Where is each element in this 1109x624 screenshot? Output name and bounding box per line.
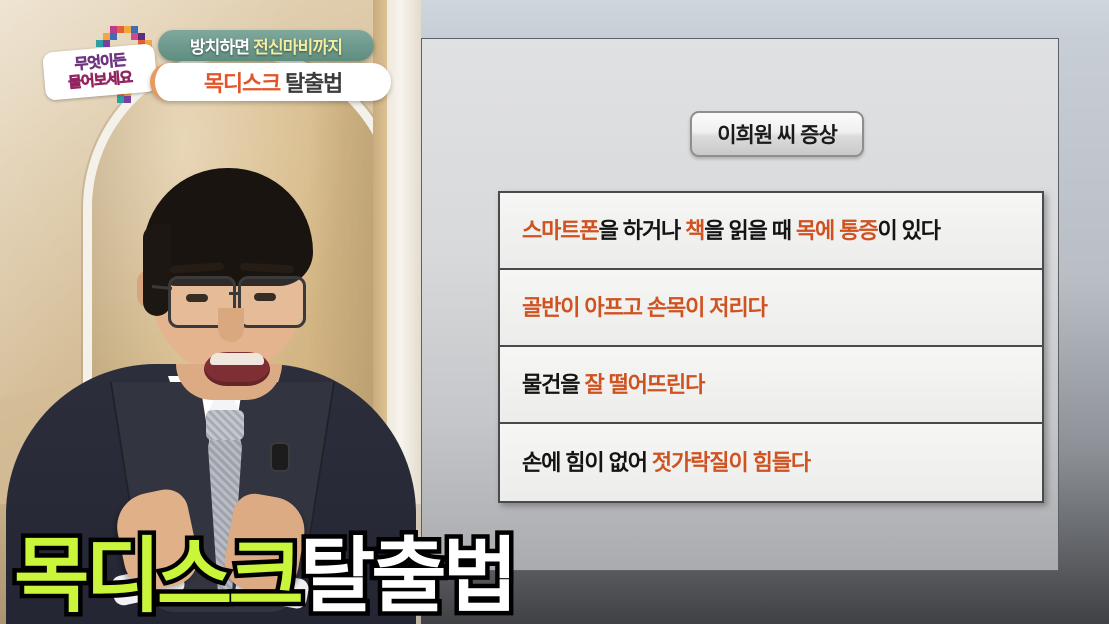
headline-title-text: 목디스크 탈출법 [204,66,342,98]
symptom-1-segment-2: 을 하거나 [599,218,686,243]
symptom-1-segment-3: 책 [685,218,704,243]
table-row: 손에 힘이 없어 젓가락질이 힘들다 [500,424,1042,501]
lower-third-caption: 목디스크탈출법 [14,536,514,618]
broadcast-frame: 무엇이든 물어보세요 방치하면 전신마비까지 목디스크 탈출법 이희원 씨 증상… [0,0,1109,624]
host-teeth [210,353,264,365]
panel-title-box: 이희원 씨 증상 [690,111,864,157]
presentation-panel: 이희원 씨 증상 스마트폰을 하거나 책을 읽을 때 목에 통증이 있다 골반이… [421,38,1059,571]
symptom-1-segment-4: 을 읽을 때 [704,218,796,243]
eyeglasses-lens-right [238,276,306,328]
host-necktie-knot [206,410,244,440]
question-mark-pixel [103,33,110,40]
symptom-1-segment-5: 목에 통증 [796,218,878,243]
symptom-text-1: 스마트폰을 하거나 책을 읽을 때 목에 통증이 있다 [522,220,940,242]
headline-banner-subtitle: 방치하면 전신마비까지 [158,30,374,61]
question-mark-pixel [110,26,117,33]
symptom-3-segment-1: 물건을 [522,372,584,397]
headline-banner-title: 목디스크 탈출법 [150,63,391,101]
symptom-1-segment-6: 이 있다 [877,218,939,243]
question-mark-pixel [131,33,138,40]
lapel-microphone-icon [272,444,288,470]
symptom-4-segment-2: 젓가락질이 힘들다 [652,450,810,475]
symptom-4-segment-1: 손에 힘이 없어 [522,450,652,475]
headline-title-part2: 탈출법 [280,71,342,96]
headline-subtitle-text: 방치하면 전신마비까지 [190,33,342,58]
symptom-text-4: 손에 힘이 없어 젓가락질이 힘들다 [522,452,810,474]
question-mark-pixel [138,33,145,40]
presentation-screen-area: 이희원 씨 증상 스마트폰을 하거나 책을 읽을 때 목에 통증이 있다 골반이… [421,0,1109,624]
headline-title-part1: 목디스크 [204,71,280,96]
question-mark-pixel [131,26,138,33]
host-nose [218,308,244,342]
symptom-text-2: 골반이 아프고 손목이 저리다 [522,297,767,319]
table-row: 스마트폰을 하거나 책을 읽을 때 목에 통증이 있다 [500,193,1042,270]
symptom-list-table: 스마트폰을 하거나 책을 읽을 때 목에 통증이 있다 골반이 아프고 손목이 … [498,191,1044,503]
table-row: 물건을 잘 떨어뜨린다 [500,347,1042,424]
host-hair-side [143,224,171,316]
panel-title-text: 이희원 씨 증상 [717,119,837,149]
symptom-1-segment-1: 스마트폰 [522,218,599,243]
table-row: 골반이 아프고 손목이 저리다 [500,270,1042,347]
program-logo: 무엇이든 물어보세요 [44,42,156,100]
symptom-3-segment-2: 잘 떨어뜨린다 [584,372,704,397]
headline-subtitle-part1: 방치하면 [190,38,253,57]
question-mark-pixel [117,26,124,33]
symptom-text-3: 물건을 잘 떨어뜨린다 [522,374,704,396]
symptom-2-segment-1: 골반이 아프고 손목이 저리다 [522,295,767,320]
caption-part1: 목디스크 [14,531,300,622]
caption-part2: 탈출법 [300,531,514,622]
question-mark-pixel [110,33,117,40]
eyeglasses-bridge [229,292,240,295]
question-mark-pixel [124,26,131,33]
headline-subtitle-part2: 전신마비까지 [253,38,342,57]
